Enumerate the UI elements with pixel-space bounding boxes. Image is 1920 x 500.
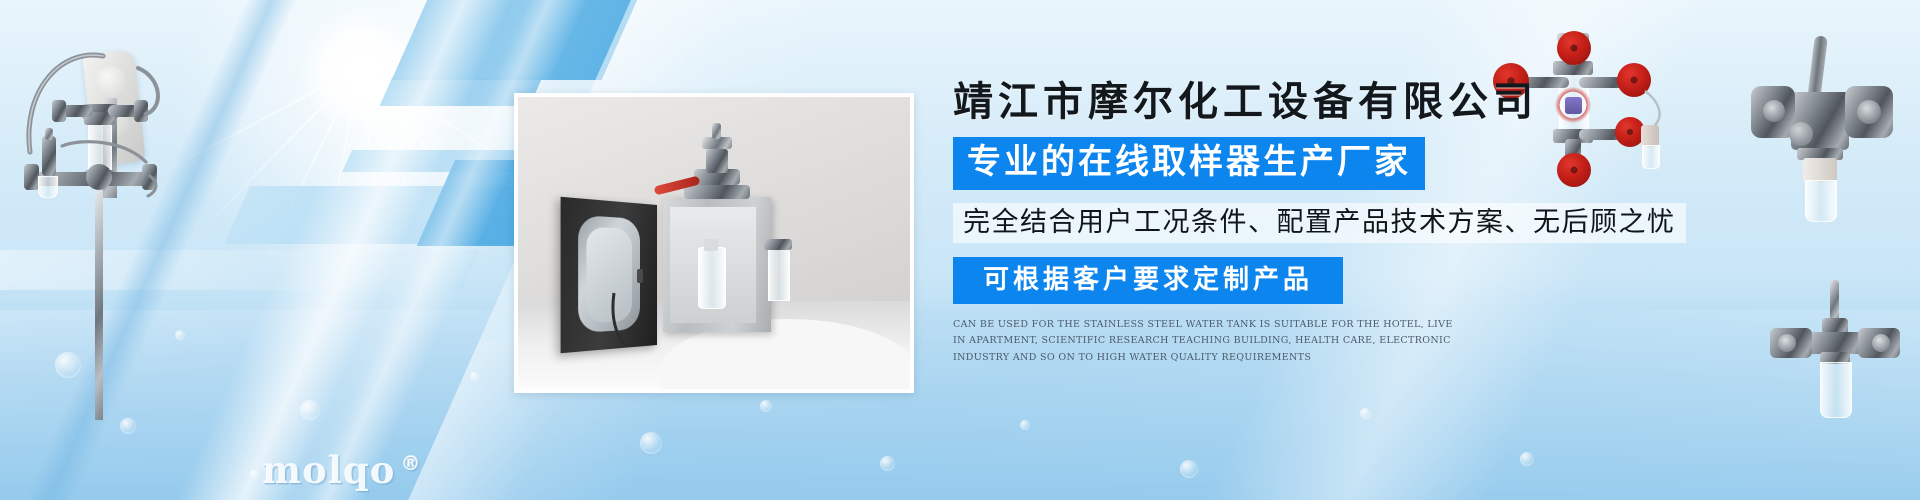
- watermark-text: molqo: [262, 448, 395, 492]
- flange-right-bore: [1872, 334, 1890, 352]
- headline-badge: 专业的在线取样器生产厂家: [953, 137, 1425, 190]
- angled-block: [224, 186, 550, 244]
- lever-handle: [1807, 35, 1828, 100]
- registered-trademark-icon: ®: [400, 451, 421, 475]
- subline-text: 完全结合用户工况条件、配置产品技术方案、无后顾之忧: [953, 203, 1686, 243]
- flange-left-bore: [1763, 100, 1785, 122]
- fineprint-text: CAN BE USED FOR THE STAINLESS STEEL WATE…: [953, 317, 1458, 367]
- water-droplet: [760, 400, 772, 412]
- water-droplet: [250, 470, 258, 478]
- bottle-collar: [1803, 158, 1837, 182]
- promo-banner: 靖江市摩尔化工设备有限公司 专业的在线取样器生产厂家 完全结合用户工况条件、配置…: [0, 0, 1920, 500]
- water-droplet: [1360, 408, 1371, 419]
- left-product-image: [0, 0, 260, 420]
- sun-ray: [257, 68, 360, 276]
- flange-left-bore: [1778, 334, 1796, 352]
- collection-bottle: [1820, 362, 1852, 418]
- center-product-photo: [514, 93, 914, 393]
- water-droplet: [1020, 420, 1030, 430]
- water-droplet: [1520, 452, 1534, 466]
- collection-bottle: [1805, 180, 1837, 222]
- right-lever-valve-image: [1745, 30, 1905, 230]
- sun-ray: [358, 67, 507, 244]
- company-name: 靖江市摩尔化工设备有限公司: [953, 78, 1723, 126]
- valve-stem: [1830, 280, 1839, 322]
- water-droplet: [120, 418, 136, 434]
- water-droplet: [470, 372, 479, 381]
- tubing-lines: [0, 0, 260, 300]
- sun-ray: [358, 68, 446, 282]
- sun-ray: [318, 68, 360, 295]
- watermark-logo: molqo®: [262, 448, 421, 492]
- photo-cable: [518, 97, 914, 393]
- tagline-badge: 可根据客户要求定制产品: [953, 257, 1343, 304]
- valve-body-main: [1808, 332, 1862, 354]
- sun-core: [300, 10, 420, 130]
- water-droplet: [300, 400, 320, 420]
- water-droplet: [640, 432, 662, 454]
- water-droplet: [1180, 460, 1198, 478]
- seal-disc: [1789, 122, 1813, 146]
- flange-right-bore: [1857, 100, 1881, 124]
- right-inline-valve-image: [1760, 270, 1920, 470]
- angled-block: [392, 0, 655, 80]
- copy-block: 靖江市摩尔化工设备有限公司 专业的在线取样器生产厂家 完全结合用户工况条件、配置…: [953, 78, 1723, 366]
- sun-ray: [358, 68, 392, 296]
- water-droplet: [880, 456, 895, 471]
